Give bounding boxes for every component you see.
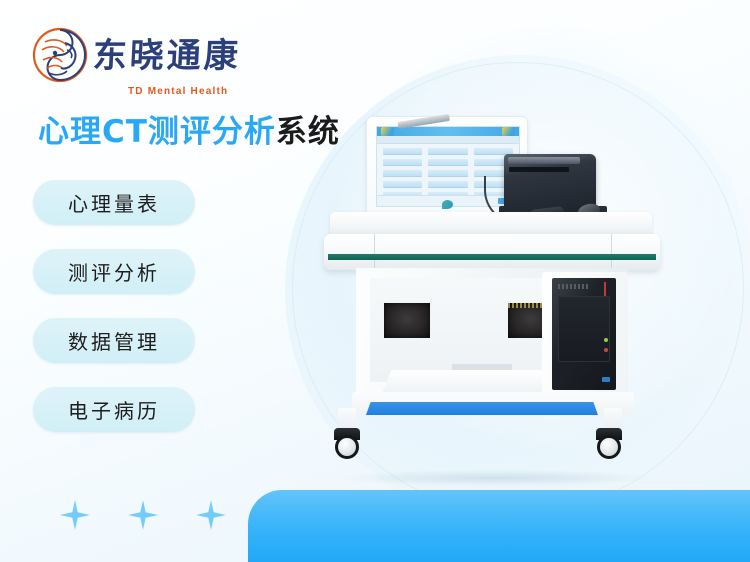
printer-top-cover [508,157,580,164]
bottom-blue-panel [248,490,750,562]
app-logo-icon [381,127,394,136]
feature-list: 心理量表 测评分析 数据管理 电子病历 [33,180,195,456]
app-logo-secondary-icon [502,127,515,136]
feature-pill-analysis[interactable]: 测评分析 [33,249,195,294]
cabinet-port-left [382,301,432,340]
cart-kick-strip [366,402,598,415]
feature-pill-label: 测评分析 [68,257,160,286]
product-image-psych-ct-workstation: 郑州市东晓健康医疗科技有限公司 ZHENGZHOU DONGXIAO TD ME… [316,116,676,491]
tower-drive-bay [558,296,610,362]
caster-wheel-right [594,428,624,460]
tower-vent [558,284,588,289]
caster-wheel-left [332,428,362,460]
list-item [383,159,513,166]
desk-drawer-seam [374,234,612,270]
feature-pill-medical-records[interactable]: 电子病历 [33,387,195,432]
page-title: 心理CT测评分析系统 [38,106,340,151]
page-title-highlight: 心理CT测评分析 [38,114,276,150]
feature-pill-label: 数据管理 [68,326,160,355]
computer-tower [552,278,616,390]
scale-card [383,170,422,177]
tower-compartment [542,272,628,400]
cabinet-label [452,364,512,371]
app-toolbar [377,136,519,144]
list-item [383,148,513,155]
promo-poster: 东晓通康 TD Mental Health 心理CT测评分析系统 心理量表 测评… [0,0,750,562]
brand-name-en: TD Mental Health [128,86,228,97]
feature-pill-label: 心理量表 [68,188,160,217]
scale-card [383,181,422,188]
feature-pill-label: 电子病历 [68,395,160,424]
feature-pill-data-management[interactable]: 数据管理 [33,318,195,363]
scale-card [428,159,467,166]
scale-card [428,148,467,155]
scale-card [383,159,422,166]
printer-output-slot [509,167,569,172]
caster-wheel [597,435,621,459]
brand-logo: 东晓通康 TD Mental Health [31,24,246,86]
yin-yang-head-circle-icon [31,26,89,84]
feature-pill-scales[interactable]: 心理量表 [33,180,195,225]
scale-card [428,181,467,188]
desk-accent-stripe [328,254,656,260]
scale-card [383,148,422,155]
tower-usb-port [602,377,610,382]
brand-name-zh: 东晓通康 [92,28,243,77]
caster-wheel [335,435,359,459]
tower-status-led [604,348,608,352]
scale-card [428,170,467,177]
company-mark-icon [442,200,453,209]
tower-power-led [604,338,608,342]
